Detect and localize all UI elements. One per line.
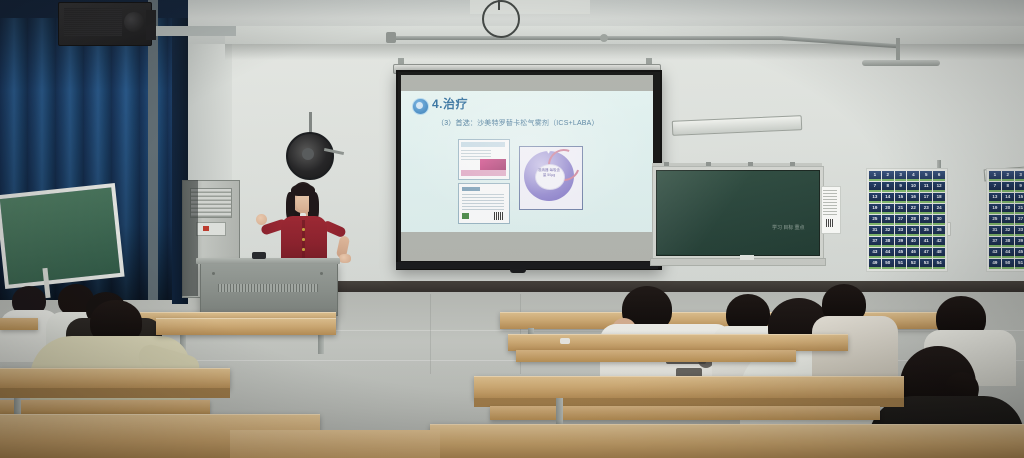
pocket-slot[interactable]: 25 [989, 215, 1001, 225]
qr-code-icon [494, 212, 503, 220]
blackboard-chalk-text: 学习 目标 重点 [772, 226, 812, 232]
ceiling-pipe [388, 36, 784, 40]
pocket-slot[interactable]: 37 [869, 237, 881, 247]
pocket-slot[interactable]: 20 [1002, 204, 1014, 214]
phone-pocket-organizer-right: 1234567891011121314151617181920212223242… [986, 168, 1024, 272]
pocket-slot[interactable]: 52 [907, 259, 919, 269]
notice-qr-icon [826, 219, 834, 227]
pocket-slot[interactable]: 51 [895, 259, 907, 269]
pocket-slot[interactable]: 36 [933, 226, 945, 236]
pocket-slot[interactable]: 39 [895, 237, 907, 247]
pocket-slot[interactable]: 9 [1015, 182, 1024, 192]
podium-vent-grille [218, 284, 318, 292]
podium-top-surface [196, 258, 340, 264]
pocket-slot[interactable]: 43 [869, 248, 881, 258]
leaflet-footer-bar [461, 170, 506, 176]
pocket-slot[interactable]: 25 [869, 215, 881, 225]
pocket-slot[interactable]: 1 [989, 171, 1001, 181]
presenter-right-hand [339, 254, 351, 263]
pocket-slot[interactable]: 7 [869, 182, 881, 192]
chalk-tray [650, 258, 826, 266]
wall-shadow [225, 44, 1024, 60]
speaker-cone-icon [124, 12, 144, 32]
pocket-slot[interactable]: 15 [895, 193, 907, 203]
pocket-slot[interactable]: 44 [1002, 248, 1014, 258]
desk-left-mid [156, 318, 336, 335]
pocket-slot[interactable]: 26 [882, 215, 894, 225]
pocket-slot[interactable]: 29 [920, 215, 932, 225]
pocket-slot[interactable]: 34 [907, 226, 919, 236]
desk-eraser[interactable] [560, 338, 570, 344]
guideline-header [462, 187, 480, 191]
pocket-slot[interactable]: 38 [1002, 237, 1014, 247]
screen-bottom-bar [396, 262, 658, 269]
pocket-slot[interactable]: 40 [907, 237, 919, 247]
pocket-slot[interactable]: 5 [920, 171, 932, 181]
pocket-slot[interactable]: 14 [1002, 193, 1014, 203]
pocket-slot[interactable]: 54 [933, 259, 945, 269]
pocket-slot[interactable]: 43 [989, 248, 1001, 258]
pocket-slot[interactable]: 33 [1015, 226, 1024, 236]
pocket-slot[interactable]: 6 [933, 171, 945, 181]
ceiling-bracket [862, 60, 940, 66]
pocket-slot[interactable]: 3 [1015, 171, 1024, 181]
screen-pull-handle[interactable] [510, 268, 526, 273]
pocket-slot[interactable]: 18 [933, 193, 945, 203]
pocket-slot[interactable]: 19 [869, 204, 881, 214]
guideline-text-lines [462, 194, 504, 210]
classroom-photo: 4.治疗 （3）首选：沙美特罗替卡松气雾剂（ICS+LABA） 准纳器 每吸含量… [0, 0, 1024, 458]
podium-device[interactable] [252, 252, 266, 259]
pocket-slot[interactable]: 49 [989, 259, 1001, 269]
pocket-slot[interactable]: 27 [1015, 215, 1024, 225]
pocket-slot[interactable]: 27 [895, 215, 907, 225]
pipe-bracket [386, 32, 396, 43]
pocket-slot[interactable]: 23 [920, 204, 932, 214]
pocket-slot[interactable]: 10 [907, 182, 919, 192]
pocket-slot[interactable]: 13 [989, 193, 1001, 203]
pocket-slot[interactable]: 8 [882, 182, 894, 192]
pocket-slot[interactable]: 15 [1015, 193, 1024, 203]
blackboard-eraser[interactable] [740, 255, 754, 260]
presenter-left-hand [256, 214, 267, 225]
notice-text-lines [823, 190, 837, 216]
bench-mid-right [516, 350, 796, 362]
pocket-slot[interactable]: 16 [907, 193, 919, 203]
slide-logo-inner-icon [416, 102, 423, 109]
pocket-slot[interactable]: 53 [920, 259, 932, 269]
pocket-slot[interactable]: 37 [989, 237, 1001, 247]
leaflet-header [461, 142, 505, 147]
pocket-slot[interactable]: 51 [1015, 259, 1024, 269]
blackboard-sheen [656, 170, 818, 254]
pocket-slot[interactable]: 4 [907, 171, 919, 181]
pocket-slot[interactable]: 2 [1002, 171, 1014, 181]
desk-front-left [0, 368, 230, 389]
pocket-slot[interactable]: 44 [882, 248, 894, 258]
shirt-button-icon [302, 248, 305, 251]
desk-foreground-center [230, 430, 440, 458]
desk-row-front-right [474, 376, 904, 399]
diagram-label-text: 准纳器 每吸含量 50μg [537, 168, 561, 177]
pocket-slot[interactable]: 9 [895, 182, 907, 192]
pocket-slot[interactable]: 31 [989, 226, 1001, 236]
pocket-slot[interactable]: 13 [869, 193, 881, 203]
pocket-slot[interactable]: 46 [907, 248, 919, 258]
pocket-grid: 1234567891011121314151617181920212223242… [989, 171, 1024, 269]
pocket-slot[interactable]: 12 [933, 182, 945, 192]
pocket-slot[interactable]: 32 [882, 226, 894, 236]
fan-hub-icon [302, 148, 314, 160]
pocket-slot[interactable]: 50 [882, 259, 894, 269]
sparkle-icon: ✦ [546, 150, 552, 156]
pocket-grid: 1234567891011121314151617181920212223242… [869, 171, 945, 269]
pocket-slot[interactable]: 38 [882, 237, 894, 247]
shirt-button-icon [302, 228, 305, 231]
pocket-slot[interactable]: 3 [895, 171, 907, 181]
shirt-button-icon [302, 238, 305, 241]
bench-front-left [0, 400, 210, 414]
pocket-slot[interactable]: 45 [895, 248, 907, 258]
slide-subtitle: （3）首选：沙美特罗替卡松气雾剂（ICS+LABA） [437, 119, 647, 129]
pocket-slot[interactable]: 42 [933, 237, 945, 247]
podium-fastener [212, 272, 215, 275]
pocket-slot[interactable]: 48 [933, 248, 945, 258]
ac-power-led-icon [203, 226, 209, 231]
mobile-chalkboard [0, 183, 125, 289]
pocket-slot[interactable]: 8 [1002, 182, 1014, 192]
screen-letterbox-bottom [401, 232, 653, 261]
pocket-slot[interactable]: 22 [907, 204, 919, 214]
pocket-slot[interactable]: 32 [1002, 226, 1014, 236]
pocket-slot[interactable]: 7 [989, 182, 1001, 192]
window-transom [150, 26, 236, 36]
floor-tile-line [430, 294, 431, 374]
desk-row-mid-right [508, 334, 848, 351]
screen-letterbox-top [401, 75, 653, 91]
pocket-slot[interactable]: 14 [882, 193, 894, 203]
pocket-slot[interactable]: 35 [920, 226, 932, 236]
pocket-slot[interactable]: 19 [989, 204, 1001, 214]
hanging-cable-loop [482, 0, 520, 38]
pocket-slot[interactable]: 41 [920, 237, 932, 247]
ac-control-panel[interactable] [196, 222, 226, 236]
pocket-slot[interactable]: 24 [933, 204, 945, 214]
phone-pocket-organizer-left: 1234567891011121314151617181920212223242… [866, 168, 948, 272]
pocket-slot[interactable]: 39 [1015, 237, 1024, 247]
hanging-cable [498, 0, 500, 10]
pocket-slot[interactable]: 30 [933, 215, 945, 225]
pocket-slot[interactable]: 21 [1015, 204, 1024, 214]
pocket-slot[interactable]: 21 [895, 204, 907, 214]
desk-front-left-edge [0, 388, 230, 398]
desk-foreground-right [430, 424, 1024, 458]
pocket-slot[interactable]: 1 [869, 171, 881, 181]
pocket-slot[interactable]: 26 [1002, 215, 1014, 225]
bench-front-right [490, 406, 880, 420]
slide-title: 4.治疗 [432, 96, 582, 112]
guideline-logo-icon [462, 213, 469, 219]
pocket-slot[interactable]: 33 [895, 226, 907, 236]
pocket-slot[interactable]: 47 [920, 248, 932, 258]
pocket-slot[interactable]: 45 [1015, 248, 1024, 258]
pocket-slot[interactable]: 17 [920, 193, 932, 203]
pocket-slot[interactable]: 11 [920, 182, 932, 192]
pocket-slot[interactable]: 31 [869, 226, 881, 236]
pocket-slot[interactable]: 20 [882, 204, 894, 214]
pipe-bracket [600, 34, 608, 42]
bench-left [0, 318, 38, 330]
speaker-mount [146, 10, 156, 40]
speaker-grille-icon [64, 8, 122, 36]
pocket-slot[interactable]: 49 [869, 259, 881, 269]
pocket-slot[interactable]: 2 [882, 171, 894, 181]
pocket-slot[interactable]: 50 [1002, 259, 1014, 269]
pocket-slot[interactable]: 28 [907, 215, 919, 225]
ac-shadow [182, 180, 198, 296]
podium-fastener [320, 272, 323, 275]
